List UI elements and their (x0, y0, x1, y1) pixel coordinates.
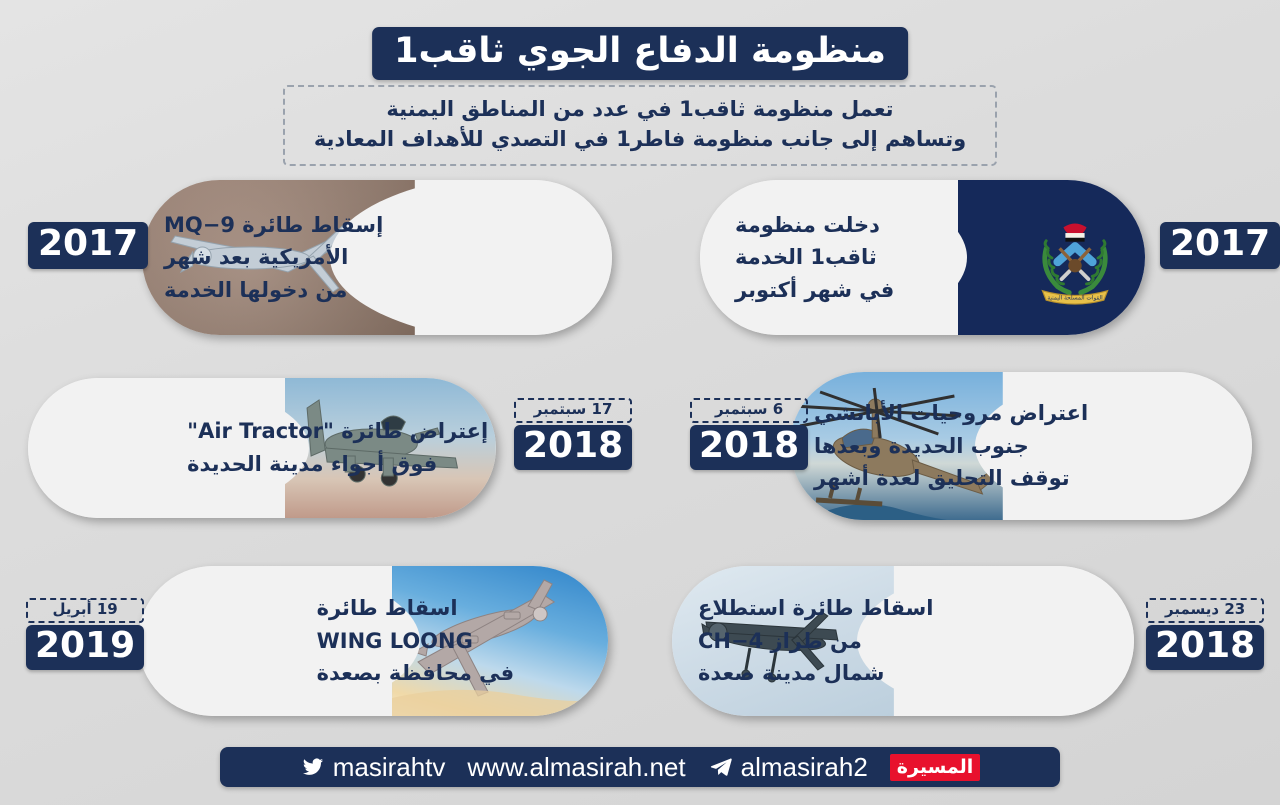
event-text-mq9-shootdown: إسقاط طائرة MQ−9 الأمريكية بعد شهر من دخ… (164, 180, 424, 335)
event-line: دخلت منظومة (735, 209, 880, 242)
event-text-apache-intercept: اعتراض مروحيات الأباتشي جنوب الحديدة وبع… (814, 372, 1086, 520)
date-badge-23-december-2018: 23 ديسمبر 2018 (1146, 598, 1264, 670)
subtitle-box: تعمل منظومة ثاقب1 في عدد من المناطق اليم… (283, 85, 997, 166)
event-text-air-tractor-intercept: إعتراض طائرة "Air Tractor" فوق أجواء مدي… (187, 378, 472, 518)
event-line: من دخولها الخدمة (164, 274, 347, 307)
telegram-paper-plane-icon (708, 756, 734, 778)
badge-month: 23 ديسمبر (1146, 598, 1264, 623)
event-line: اعتراض مروحيات الأباتشي (814, 397, 1088, 430)
badge-month: 19 أبريل (26, 598, 144, 623)
date-badge-19-april-2019: 19 أبريل 2019 (26, 598, 144, 670)
telegram-handle-label: almasirah2 (741, 752, 868, 783)
date-badge-2017-right: 2017 (1160, 222, 1280, 269)
twitter-handle-label: masirahtv (333, 752, 446, 783)
subtitle-line-1: تعمل منظومة ثاقب1 في عدد من المناطق اليم… (295, 94, 985, 124)
website-label: www.almasirah.net (467, 752, 685, 783)
website-item[interactable]: www.almasirah.net (467, 752, 685, 783)
event-card-air-tractor-intercept[interactable]: إعتراض طائرة "Air Tractor" فوق أجواء مدي… (28, 378, 496, 518)
event-line: اسقاط طائرة (317, 592, 458, 625)
event-line: الأمريكية بعد شهر (164, 241, 348, 274)
telegram-handle-item[interactable]: almasirah2 (708, 752, 868, 783)
event-line: شمال مدينة صعدة (698, 657, 884, 690)
badge-year: 2018 (514, 425, 632, 470)
event-card-ch4-shootdown[interactable]: اسقاط طائرة استطلاع من طراز CH−4 شمال مد… (672, 566, 1134, 716)
event-line: توقف التحليق لعدة أشهر (814, 462, 1070, 495)
event-card-apache-intercept[interactable]: اعتراض مروحيات الأباتشي جنوب الحديدة وبع… (790, 372, 1252, 520)
event-line: من طراز CH−4 (698, 625, 862, 658)
infographic-page: منظومة الدفاع الجوي ثاقب1 تعمل منظومة ثا… (0, 0, 1280, 805)
page-title: منظومة الدفاع الجوي ثاقب1 (372, 27, 908, 80)
svg-text:القوات المسلحة اليمنية: القوات المسلحة اليمنية (1047, 295, 1103, 301)
footer-bar: masirahtv www.almasirah.net almasirah2 ا… (220, 747, 1060, 787)
event-line: إعتراض طائرة "Air Tractor" (187, 415, 488, 448)
badge-year: 2018 (690, 425, 808, 470)
yemeni-armed-forces-emblem: القوات المسلحة اليمنية (1027, 210, 1123, 306)
date-badge-6-september-2018: 6 سبتمبر 2018 (690, 398, 808, 470)
event-line: في محافظة بصعدة (317, 657, 515, 690)
date-badge-2017-left: 2017 (28, 222, 148, 269)
date-badge-17-september-2018: 17 سبتمبر 2018 (514, 398, 632, 470)
event-card-mq9-shootdown[interactable]: إسقاط طائرة MQ−9 الأمريكية بعد شهر من دخ… (142, 180, 612, 335)
event-card-wing-loong-shootdown[interactable]: اسقاط طائرة WING LOONG في محافظة بصعدة (138, 566, 608, 716)
badge-month: 6 سبتمبر (690, 398, 808, 423)
event-text-ch4-shootdown: اسقاط طائرة استطلاع من طراز CH−4 شمال مد… (698, 566, 958, 716)
subtitle-line-2: وتساهم إلى جانب منظومة فاطر1 في التصدي ل… (295, 124, 985, 154)
event-line: اسقاط طائرة استطلاع (698, 592, 933, 625)
event-line: فوق أجواء مدينة الحديدة (187, 448, 437, 481)
badge-year: 2019 (26, 625, 144, 670)
almasirah-logo[interactable]: المسيرة (890, 754, 981, 781)
twitter-bird-icon (300, 756, 326, 778)
event-text-thaqib1-entered-service: دخلت منظومة ثاقب1 الخدمة في شهر أكتوبر (735, 180, 985, 335)
badge-year: 2017 (1160, 222, 1280, 269)
badge-month: 17 سبتمبر (514, 398, 632, 423)
event-line: ثاقب1 الخدمة (735, 241, 877, 274)
event-line: إسقاط طائرة MQ−9 (164, 209, 383, 242)
event-text-wing-loong-shootdown: اسقاط طائرة WING LOONG في محافظة بصعدة (317, 566, 580, 716)
event-line: في شهر أكتوبر (735, 274, 894, 307)
event-line: جنوب الحديدة وبعدها (814, 430, 1029, 463)
badge-year: 2018 (1146, 625, 1264, 670)
event-line: WING LOONG (317, 625, 473, 658)
badge-year: 2017 (28, 222, 148, 269)
twitter-handle-item[interactable]: masirahtv (300, 752, 446, 783)
event-card-thaqib1-entered-service[interactable]: القوات المسلحة اليمنية دخلت منظومة ثاقب1… (700, 180, 1145, 335)
